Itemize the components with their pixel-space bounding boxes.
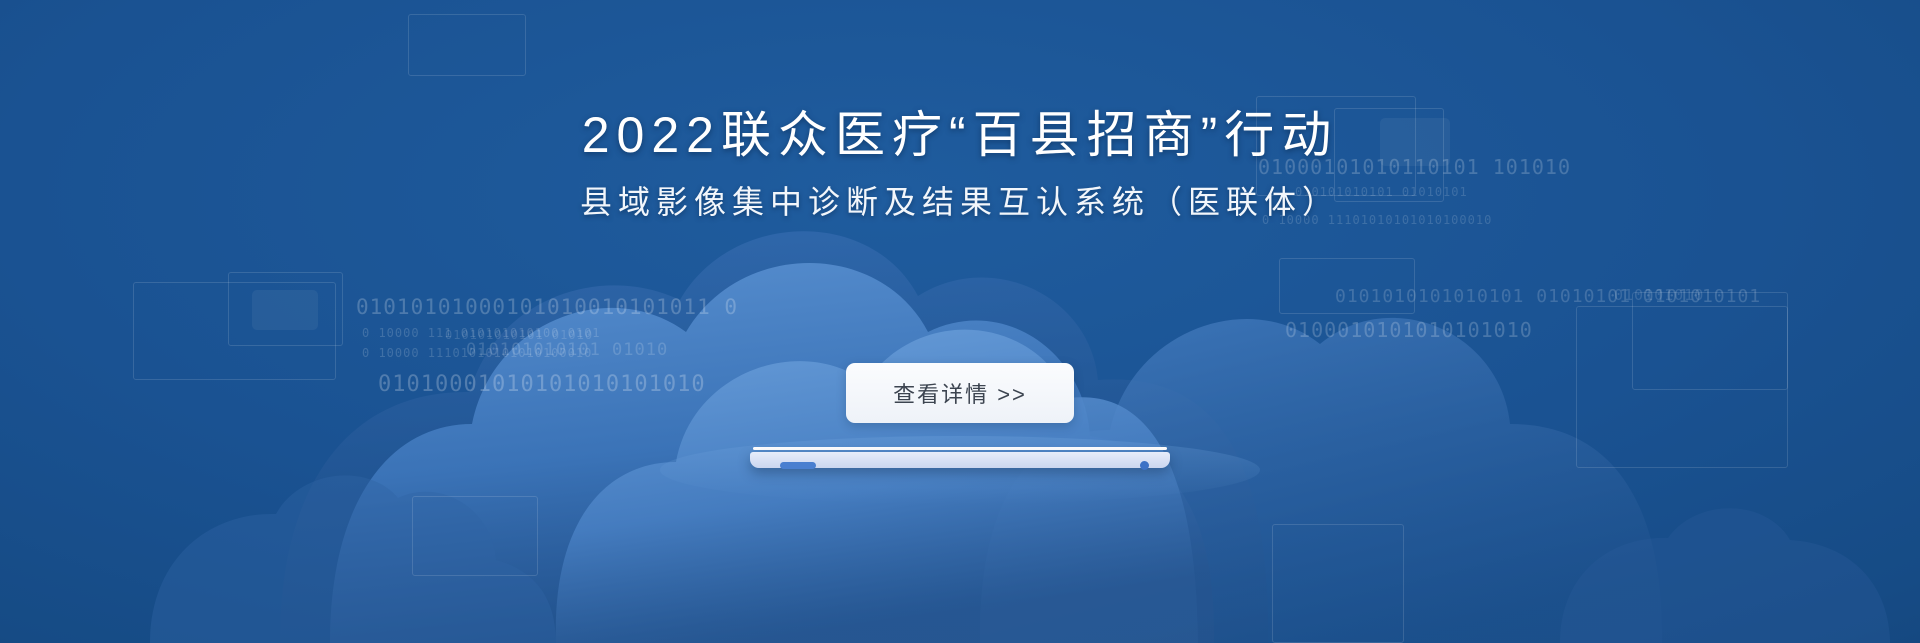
binary-decor-1: 01010101000101010010101011 0 xyxy=(356,295,738,319)
device-screen-edge xyxy=(753,447,1167,450)
hero-banner: 01010101000101010010101011 0 0 10000 111… xyxy=(0,0,1920,643)
binary-decor-11: 0100010101010101010 xyxy=(1285,318,1533,342)
decor-rect-outline-6 xyxy=(1279,258,1415,314)
decor-rect-fill-1 xyxy=(252,290,318,330)
device-speaker-icon xyxy=(780,462,816,469)
decor-rect-outline-3 xyxy=(412,496,538,576)
decor-rect-outline-2 xyxy=(228,272,343,346)
binary-decor-8: 010101010101 01010 xyxy=(466,340,668,360)
device-body xyxy=(750,452,1170,468)
cta-container: 查看详情 >> xyxy=(0,363,1920,423)
view-details-button[interactable]: 查看详情 >> xyxy=(846,363,1074,423)
page-subtitle: 县域影像集中诊断及结果互认系统（医联体） xyxy=(0,182,1920,224)
page-title: 2022联众医疗“百县招商”行动 xyxy=(0,106,1920,165)
device-camera-icon xyxy=(1140,461,1149,470)
binary-decor-2: 0 10000 111 010101010100 0101 xyxy=(362,326,601,340)
tablet-device-graphic xyxy=(750,447,1170,471)
binary-decor-4: 010101010101 01010 xyxy=(445,328,593,342)
binary-decor-12: 010101010 xyxy=(1614,286,1704,304)
binary-decor-10: 0101010101010101 01010101 0101010101 xyxy=(1335,286,1761,307)
binary-decor-3: 0 10000 11101010101010100010 xyxy=(362,346,592,360)
decor-rect-outline-9 xyxy=(1272,524,1404,643)
banner-text-block: 2022联众医疗“百县招商”行动 县域影像集中诊断及结果互认系统（医联体） xyxy=(0,0,1920,224)
